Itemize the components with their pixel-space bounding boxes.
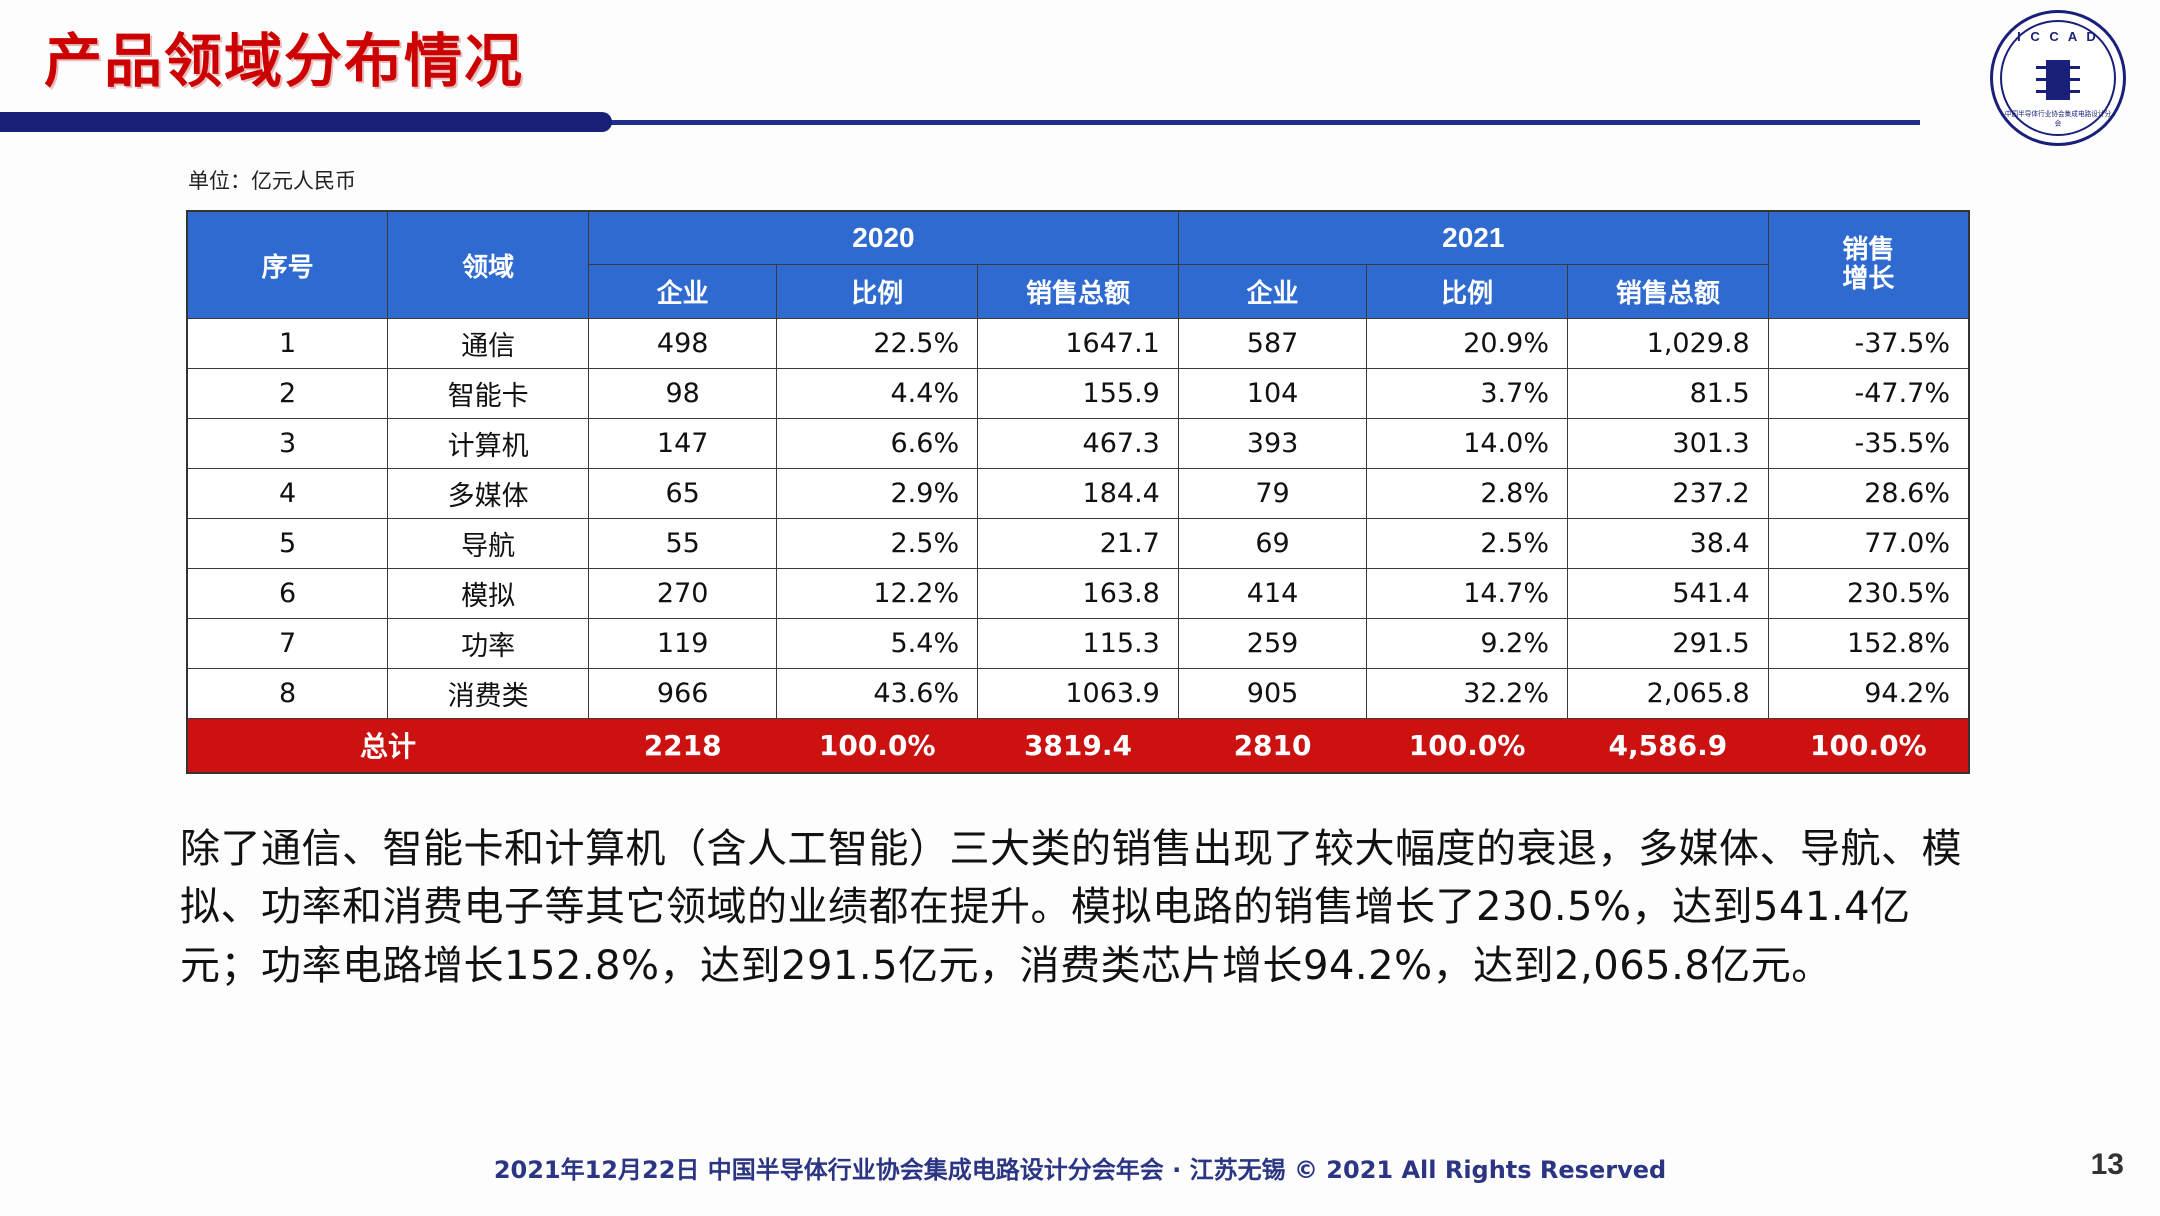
cell-s2020: 1647.1 (978, 319, 1179, 369)
slide-footer: 2021年12月22日 中国半导体行业协会集成电路设计分会年会 · 江苏无锡 ©… (0, 1150, 2160, 1185)
cell-total-growth: 100.0% (1768, 719, 1969, 773)
logo-top-text: I C C A D (2002, 29, 2114, 44)
cell-s2021: 291.5 (1567, 619, 1768, 669)
product-field-table: 序号 领域 2020 2021 销售 增长 企业 比例 销售总额 企业 比例 销… (186, 210, 1970, 774)
th-sales-growth-line1: 销售 (1773, 236, 1964, 265)
body-paragraph: 除了通信、智能卡和计算机（含人工智能）三大类的销售出现了较大幅度的衰退，多媒体、… (180, 820, 1990, 995)
cell-growth: 94.2% (1768, 669, 1969, 719)
cell-e2021: 587 (1178, 319, 1366, 369)
cell-r2021: 20.9% (1367, 319, 1568, 369)
cell-growth: -47.7% (1768, 369, 1969, 419)
cell-r2020: 2.9% (777, 469, 978, 519)
cell-no: 2 (187, 369, 388, 419)
cell-e2020: 55 (588, 519, 776, 569)
th-year-2021: 2021 (1178, 211, 1768, 265)
cell-total-r2020: 100.0% (777, 719, 978, 773)
cell-no: 4 (187, 469, 388, 519)
cell-e2020: 498 (588, 319, 776, 369)
cell-s2020: 155.9 (978, 369, 1179, 419)
cell-s2021: 2,065.8 (1567, 669, 1768, 719)
cell-s2021: 1,029.8 (1567, 319, 1768, 369)
logo-inner-ring: I C C A D 中国半导体行业协会集成电路设计分会 (2000, 20, 2116, 136)
cell-e2021: 104 (1178, 369, 1366, 419)
page-number: 13 (2091, 1148, 2124, 1182)
th-ratio-2020: 比例 (777, 265, 978, 319)
cell-total-label: 总计 (187, 719, 588, 773)
th-sales-total-2021: 销售总额 (1567, 265, 1768, 319)
cell-e2021: 393 (1178, 419, 1366, 469)
cell-r2020: 6.6% (777, 419, 978, 469)
cell-total-r2021: 100.0% (1367, 719, 1568, 773)
cell-r2021: 14.7% (1367, 569, 1568, 619)
table-row: 6 模拟 270 12.2% 163.8 414 14.7% 541.4 230… (187, 569, 1969, 619)
cell-field: 通信 (388, 319, 589, 369)
th-sales-growth-line2: 增长 (1773, 265, 1964, 294)
cell-s2020: 115.3 (978, 619, 1179, 669)
cell-r2020: 43.6% (777, 669, 978, 719)
cell-e2021: 905 (1178, 669, 1366, 719)
th-sales-growth: 销售 增长 (1768, 211, 1969, 319)
cell-s2021: 237.2 (1567, 469, 1768, 519)
iccad-logo: I C C A D 中国半导体行业协会集成电路设计分会 (1990, 10, 2126, 146)
cell-r2020: 2.5% (777, 519, 978, 569)
table-head-row-1: 序号 领域 2020 2021 销售 增长 (187, 211, 1969, 265)
cell-r2021: 32.2% (1367, 669, 1568, 719)
cell-field: 模拟 (388, 569, 589, 619)
cell-e2021: 414 (1178, 569, 1366, 619)
cell-e2020: 270 (588, 569, 776, 619)
th-ratio-2021: 比例 (1367, 265, 1568, 319)
cell-growth: 230.5% (1768, 569, 1969, 619)
cell-e2020: 966 (588, 669, 776, 719)
table-row: 2 智能卡 98 4.4% 155.9 104 3.7% 81.5 -47.7% (187, 369, 1969, 419)
cell-r2021: 3.7% (1367, 369, 1568, 419)
cell-growth: 77.0% (1768, 519, 1969, 569)
cell-e2020: 119 (588, 619, 776, 669)
cell-no: 3 (187, 419, 388, 469)
cell-no: 6 (187, 569, 388, 619)
cell-r2021: 2.5% (1367, 519, 1568, 569)
cell-e2020: 98 (588, 369, 776, 419)
th-enterprises-2020: 企业 (588, 265, 776, 319)
cell-e2021: 69 (1178, 519, 1366, 569)
slide-root: 产品领域分布情况 I C C A D 中国半导体行业协会集成电路设计分会 单位：… (0, 0, 2160, 1216)
cell-field: 功率 (388, 619, 589, 669)
table-row: 1 通信 498 22.5% 1647.1 587 20.9% 1,029.8 … (187, 319, 1969, 369)
cell-s2020: 21.7 (978, 519, 1179, 569)
cell-e2020: 147 (588, 419, 776, 469)
cell-total-s2020: 3819.4 (978, 719, 1179, 773)
cell-field: 多媒体 (388, 469, 589, 519)
cell-field: 智能卡 (388, 369, 589, 419)
table-row: 5 导航 55 2.5% 21.7 69 2.5% 38.4 77.0% (187, 519, 1969, 569)
cell-s2021: 81.5 (1567, 369, 1768, 419)
cell-r2020: 5.4% (777, 619, 978, 669)
cell-s2021: 301.3 (1567, 419, 1768, 469)
cell-s2020: 184.4 (978, 469, 1179, 519)
cell-e2020: 65 (588, 469, 776, 519)
logo-bottom-text: 中国半导体行业协会集成电路设计分会 (2005, 110, 2111, 129)
cell-field: 导航 (388, 519, 589, 569)
cell-r2020: 4.4% (777, 369, 978, 419)
table-row: 4 多媒体 65 2.9% 184.4 79 2.8% 237.2 28.6% (187, 469, 1969, 519)
cell-growth: 152.8% (1768, 619, 1969, 669)
cell-no: 5 (187, 519, 388, 569)
th-year-2020: 2020 (588, 211, 1178, 265)
cell-growth: 28.6% (1768, 469, 1969, 519)
cell-s2020: 467.3 (978, 419, 1179, 469)
table-total-row: 总计 2218 100.0% 3819.4 2810 100.0% 4,586.… (187, 719, 1969, 773)
title-rule-accent-bar (0, 112, 612, 132)
cell-no: 1 (187, 319, 388, 369)
th-sales-total-2020: 销售总额 (978, 265, 1179, 319)
cell-s2020: 163.8 (978, 569, 1179, 619)
cell-s2021: 38.4 (1567, 519, 1768, 569)
cell-total-s2021: 4,586.9 (1567, 719, 1768, 773)
page-title: 产品领域分布情况 (44, 14, 524, 98)
table-body: 1 通信 498 22.5% 1647.1 587 20.9% 1,029.8 … (187, 319, 1969, 773)
cell-r2021: 14.0% (1367, 419, 1568, 469)
chip-icon (2036, 60, 2080, 100)
cell-growth: -35.5% (1768, 419, 1969, 469)
table-head: 序号 领域 2020 2021 销售 增长 企业 比例 销售总额 企业 比例 销… (187, 211, 1969, 319)
cell-total-e2020: 2218 (588, 719, 776, 773)
product-field-table-wrapper: 序号 领域 2020 2021 销售 增长 企业 比例 销售总额 企业 比例 销… (186, 210, 1970, 774)
cell-no: 8 (187, 669, 388, 719)
table-row: 7 功率 119 5.4% 115.3 259 9.2% 291.5 152.8… (187, 619, 1969, 669)
cell-growth: -37.5% (1768, 319, 1969, 369)
cell-s2021: 541.4 (1567, 569, 1768, 619)
table-row: 3 计算机 147 6.6% 467.3 393 14.0% 301.3 -35… (187, 419, 1969, 469)
cell-s2020: 1063.9 (978, 669, 1179, 719)
cell-r2020: 22.5% (777, 319, 978, 369)
th-no: 序号 (187, 211, 388, 319)
cell-r2021: 9.2% (1367, 619, 1568, 669)
cell-field: 消费类 (388, 669, 589, 719)
th-field: 领域 (388, 211, 589, 319)
cell-field: 计算机 (388, 419, 589, 469)
th-enterprises-2021: 企业 (1178, 265, 1366, 319)
cell-r2021: 2.8% (1367, 469, 1568, 519)
cell-total-e2021: 2810 (1178, 719, 1366, 773)
cell-e2021: 259 (1178, 619, 1366, 669)
cell-r2020: 12.2% (777, 569, 978, 619)
table-row: 8 消费类 966 43.6% 1063.9 905 32.2% 2,065.8… (187, 669, 1969, 719)
cell-no: 7 (187, 619, 388, 669)
cell-e2021: 79 (1178, 469, 1366, 519)
unit-note: 单位：亿元人民币 (188, 165, 356, 195)
